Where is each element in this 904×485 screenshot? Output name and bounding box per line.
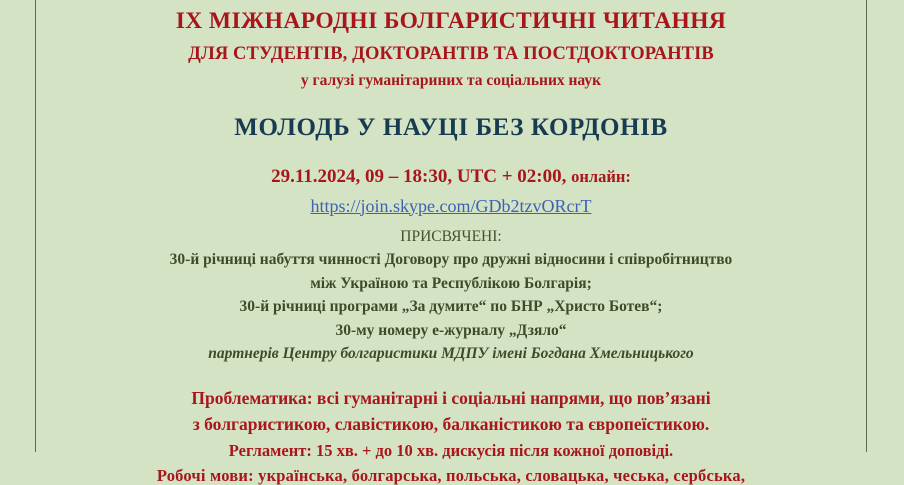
- event-link-line: https://join.skype.com/GDb2tzvORcrT: [42, 186, 860, 216]
- dedication-item-4: 30-му номеру е-журналу „Дзяло“: [42, 315, 860, 339]
- dedication-partner-line: партнерів Центру болгаристики МДПУ імені…: [42, 338, 860, 362]
- dedication-item-3: 30-й річниці програми „За думите“ по БНР…: [42, 291, 860, 315]
- skype-join-link[interactable]: https://join.skype.com/GDb2tzvORcrT: [311, 196, 592, 216]
- page-subtitle-secondary: у галузі гуманітариних та соціальних нау…: [42, 63, 860, 89]
- regulations-line: Регламент: 15 хв. + до 10 хв. дискусія п…: [42, 434, 860, 460]
- event-format-online: онлайн: [571, 167, 625, 186]
- page-title: IX МІЖНАРОДНІ БОЛГАРИСТИЧНІ ЧИТАННЯ: [42, 0, 860, 34]
- poster-page: IX МІЖНАРОДНІ БОЛГАРИСТИЧНІ ЧИТАННЯ ДЛЯ …: [0, 0, 904, 452]
- right-border-rule: [866, 0, 867, 452]
- event-datetime-colon: :: [625, 167, 631, 186]
- dedication-heading: ПРИСВЯЧЕНІ:: [42, 216, 860, 245]
- event-datetime-line: 29.11.2024, 09 – 18:30, UTC + 02:00, онл…: [42, 140, 860, 186]
- poster-content: IX МІЖНАРОДНІ БОЛГАРИСТИЧНІ ЧИТАННЯ ДЛЯ …: [36, 0, 866, 452]
- topics-line-1: Проблематика: всі гуманітарні і соціальн…: [42, 362, 860, 408]
- event-datetime: 29.11.2024, 09 – 18:30, UTC + 02:00,: [271, 166, 571, 187]
- dedication-item-1: 30-й річниці набуття чинності Договору п…: [42, 244, 860, 268]
- event-motto: МОЛОДЬ У НАУЦІ БЕЗ КОРДОНІВ: [42, 89, 860, 140]
- topics-line-2: з болгаристикою, славістикою, балканісти…: [42, 407, 860, 434]
- working-languages-line: Робочі мови: українська, болгарська, пол…: [42, 459, 860, 485]
- page-subtitle-primary: ДЛЯ СТУДЕНТІВ, ДОКТОРАНТІВ ТА ПОСТДОКТОР…: [42, 34, 860, 64]
- dedication-item-2: між Україною та Республікою Болгарія;: [42, 268, 860, 292]
